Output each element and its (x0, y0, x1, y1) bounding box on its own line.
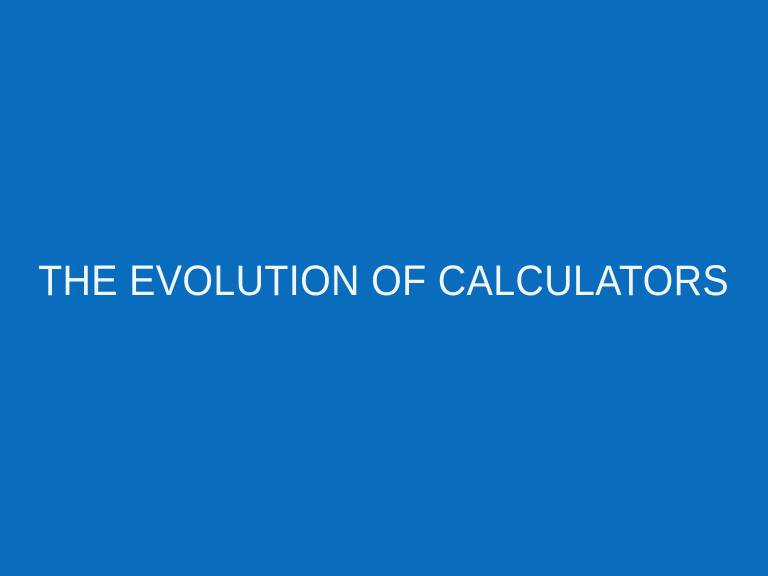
page-title: THE EVOLUTION OF CALCULATORS (39, 259, 730, 303)
title-block: THE EVOLUTION OF CALCULATORS (0, 259, 768, 303)
title-slide: THE EVOLUTION OF CALCULATORS (0, 0, 768, 576)
